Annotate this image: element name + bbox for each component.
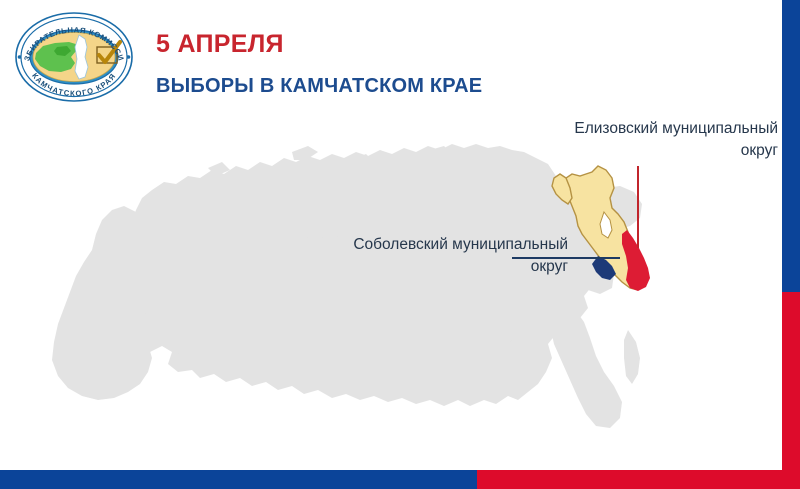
poster-canvas: Елизовский муниципальный округ Соболевск… (0, 0, 800, 489)
bottom-bar-red (477, 470, 800, 489)
right-edge-bar-red (782, 292, 800, 489)
callout-elizovsky-line2: округ (468, 140, 778, 162)
callout-sobolevsky-line1: Соболевский муниципальный (353, 236, 568, 253)
page-title: ВЫБОРЫ В КАМЧАТСКОМ КРАЕ (156, 75, 482, 98)
page-title-date: 5 АПРЕЛЯ (156, 30, 284, 59)
bottom-bar-blue (0, 470, 477, 489)
right-edge-bar-blue (782, 0, 800, 292)
callout-elizovsky-line1: Елизовский муниципальный (574, 120, 778, 137)
callout-sobolevsky: Соболевский муниципальный округ (248, 234, 568, 278)
callout-sobolevsky-line2: округ (248, 256, 568, 278)
logo-svg: ИЗБИРАТЕЛЬНАЯ КОМИССИЯ КАМЧАТСКОГО КРАЯ (13, 9, 135, 105)
electoral-commission-logo-icon: ИЗБИРАТЕЛЬНАЯ КОМИССИЯ КАМЧАТСКОГО КРАЯ (13, 9, 135, 105)
callout-elizovsky: Елизовский муниципальный округ (468, 118, 778, 162)
leader-line-elizovsky (637, 166, 639, 248)
